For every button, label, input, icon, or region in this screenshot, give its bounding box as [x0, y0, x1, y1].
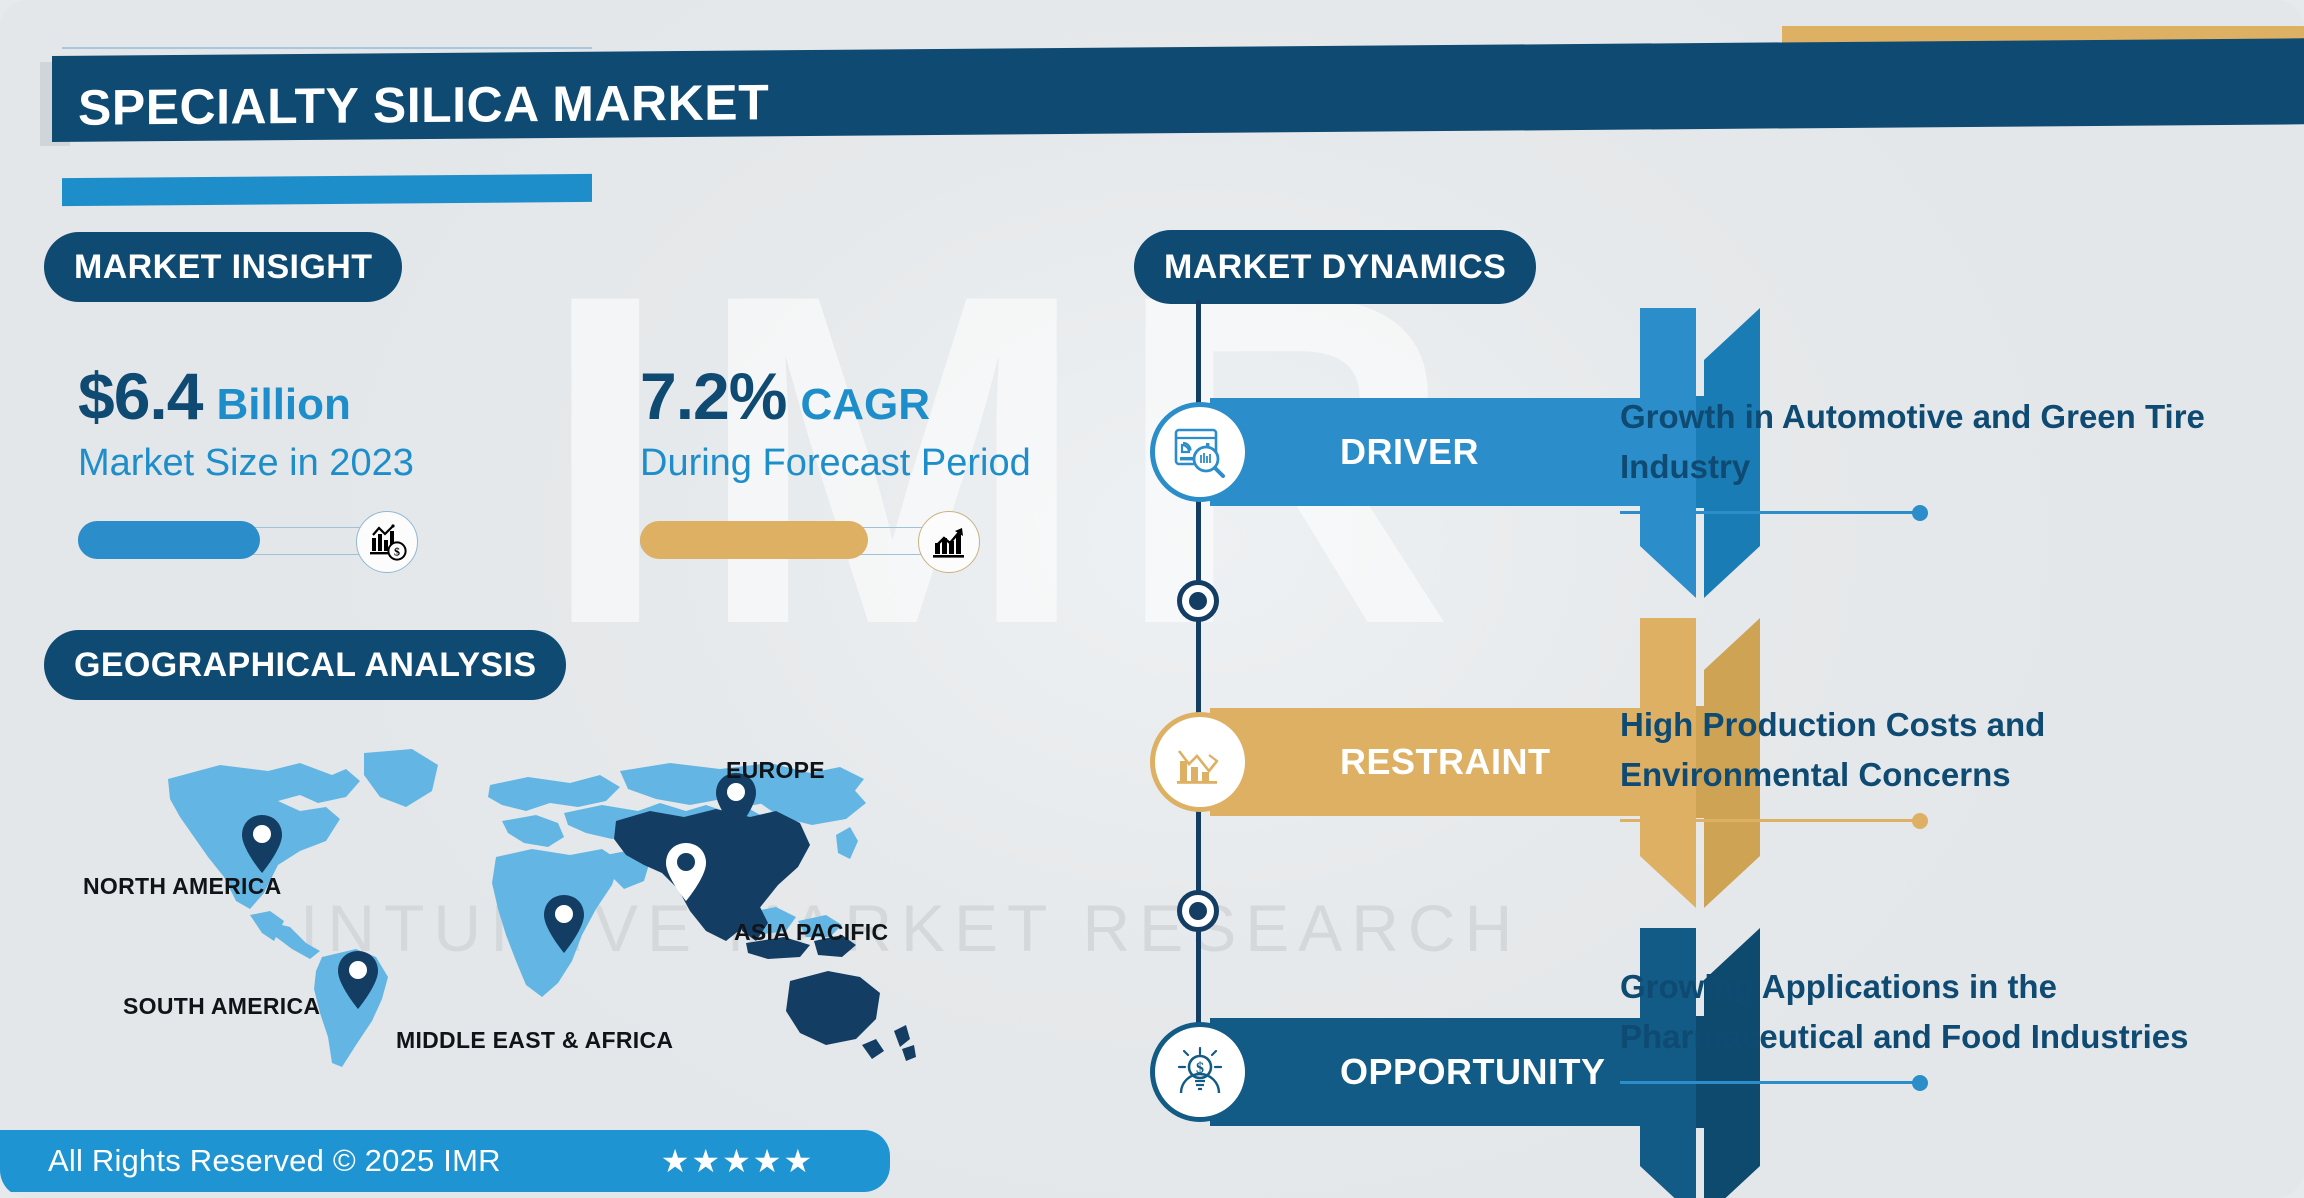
metric-caption: During Forecast Period — [640, 442, 1031, 485]
metric-unit: Billion — [216, 380, 350, 430]
opportunity-description-text: Growing Applications in the Pharmaceutic… — [1620, 962, 2260, 1061]
metric-market-size: $6.4Billion Market Size in 2023 $ — [78, 358, 414, 571]
progress-fill — [640, 521, 868, 559]
header-blue-accent — [62, 174, 592, 206]
svg-text:$: $ — [394, 544, 400, 558]
timeline-node-2 — [1177, 890, 1219, 932]
metric-value: 7.2% — [640, 358, 786, 434]
progress-fill — [78, 521, 260, 559]
opportunity-rule-line — [1620, 1081, 1920, 1084]
restraint-rule-line — [1620, 819, 1920, 822]
restraint-description-text: High Production Costs and Environmental … — [1620, 700, 2260, 799]
timeline-node-1 — [1177, 580, 1219, 622]
report-magnifier-icon — [1150, 402, 1250, 502]
opportunity-rule-dot — [1912, 1075, 1928, 1091]
map-label-north-america: NORTH AMERICA — [83, 873, 282, 900]
world-map: NORTH AMERICA SOUTH AMERICA MIDDLE EAST … — [150, 745, 930, 1075]
driver-rule-dot — [1912, 505, 1928, 521]
map-label-middle-east-africa: MIDDLE EAST & AFRICA — [396, 1027, 673, 1054]
world-map-svg — [150, 745, 930, 1075]
market-size-progress: $ — [78, 511, 414, 571]
declining-chart-icon — [1150, 712, 1250, 812]
opportunity-label: OPPORTUNITY — [1210, 1018, 1680, 1126]
rating-stars: ★★★★★ — [661, 1142, 814, 1180]
page-title: SPECIALTY SILICA MARKET — [78, 73, 769, 136]
infographic-root: IMR INTUITIVE MARKET RESEARCH SPECIALTY … — [0, 0, 2304, 1198]
metric-value: $6.4 — [78, 358, 202, 434]
restraint-rule-dot — [1912, 813, 1928, 829]
opportunity-description: Growing Applications in the Pharmaceutic… — [1620, 962, 2260, 1089]
market-dynamics-pill: MARKET DYNAMICS — [1134, 230, 1536, 304]
driver-label: DRIVER — [1210, 398, 1680, 506]
copyright-text: All Rights Reserved © 2025 IMR — [48, 1143, 501, 1179]
growth-chart-arrow-icon — [918, 511, 980, 573]
metric-cagr: 7.2%CAGR During Forecast Period — [640, 358, 1031, 571]
restraint-description: High Production Costs and Environmental … — [1620, 700, 2260, 827]
bar-chart-dollar-icon: $ — [356, 511, 418, 573]
metric-unit: CAGR — [800, 380, 930, 430]
header-thin-line — [62, 47, 592, 49]
driver-description: Growth in Automotive and Green Tire Indu… — [1620, 392, 2260, 519]
metric-caption: Market Size in 2023 — [78, 442, 414, 485]
driver-rule-line — [1620, 511, 1920, 514]
cagr-progress — [640, 511, 1031, 571]
footer-bar: All Rights Reserved © 2025 IMR ★★★★★ — [0, 1130, 890, 1192]
market-insight-pill: MARKET INSIGHT — [44, 232, 402, 302]
map-label-asia-pacific: ASIA PACIFIC — [734, 919, 888, 946]
driver-description-text: Growth in Automotive and Green Tire Indu… — [1620, 392, 2260, 491]
geographical-analysis-pill: GEOGRAPHICAL ANALYSIS — [44, 630, 566, 700]
restraint-label: RESTRAINT — [1210, 708, 1680, 816]
restraint-rule — [1620, 813, 2260, 827]
map-label-europe: EUROPE — [726, 757, 825, 784]
driver-rule — [1620, 505, 2260, 519]
opportunity-rule — [1620, 1075, 2260, 1089]
lightbulb-dollar-icon: $ — [1150, 1022, 1250, 1122]
map-label-south-america: SOUTH AMERICA — [123, 993, 320, 1020]
